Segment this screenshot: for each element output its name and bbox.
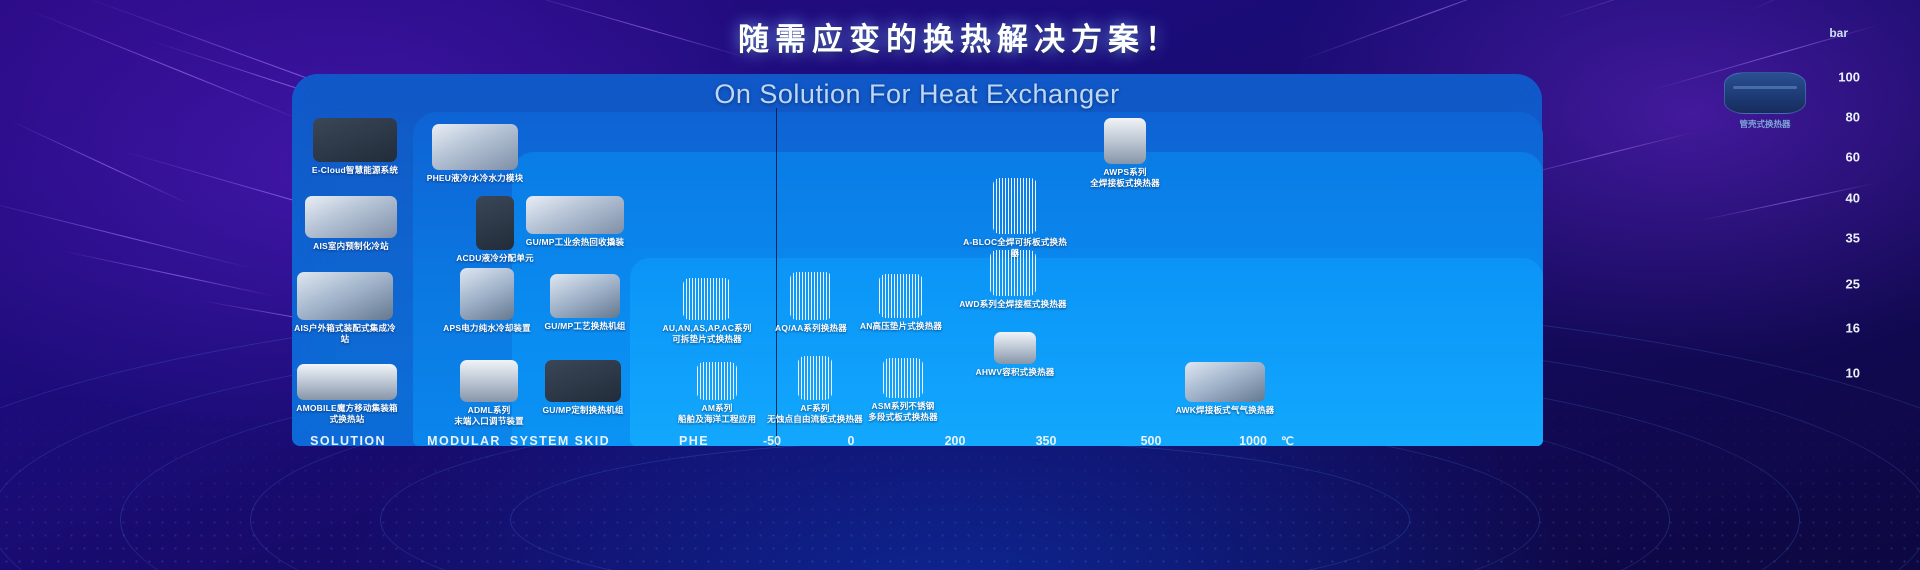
product-ais-outdoor-label: AIS户外箱式装配式集成冷站 bbox=[290, 323, 400, 345]
product-a-bloc-image bbox=[993, 178, 1037, 234]
axis-temperature-minus50: -50 bbox=[763, 434, 781, 448]
product-aq-aa-series-image bbox=[790, 272, 832, 320]
axis-unit-label: ℃ bbox=[1281, 434, 1294, 448]
subtitle: On Solution For Heat Exchanger bbox=[292, 72, 1542, 114]
product-am-series-label: AM系列 船舶及海洋工程应用 bbox=[662, 403, 772, 425]
axis-temperature-500: 500 bbox=[1141, 434, 1162, 448]
product-gump-custom-image bbox=[545, 360, 621, 402]
product-an-series[interactable]: AN高压垫片式换热器 bbox=[846, 274, 956, 332]
product-au-series-label: AU,AN,AS,AP,AC系列 可拆垫片式换热器 bbox=[652, 323, 762, 345]
product-awps-image bbox=[1104, 118, 1146, 164]
product-ahwv-label: AHWV容积式换热器 bbox=[960, 367, 1070, 378]
pressure-tick-16: 16 bbox=[1820, 321, 1860, 336]
product-ais-outdoor-image bbox=[297, 272, 393, 320]
product-ais-indoor-image bbox=[305, 196, 397, 238]
pressure-tick-25: 25 bbox=[1820, 277, 1860, 292]
page-title: 随需应变的换热解决方案！ bbox=[0, 14, 1920, 59]
axis-temperature-0: 0 bbox=[848, 434, 855, 448]
product-awd-series-label: AWD系列全焊接框式换热器 bbox=[958, 299, 1068, 310]
pressure-tick-10: 10 bbox=[1820, 366, 1860, 381]
product-ahwv-image bbox=[994, 332, 1036, 364]
axis-category-solution: SOLUTION bbox=[310, 434, 386, 448]
product-acdu-label: ACDU液冷分配单元 bbox=[440, 253, 550, 264]
product-awd-series[interactable]: AWD系列全焊接框式换热器 bbox=[958, 250, 1068, 310]
pressure-tick-40: 40 bbox=[1820, 191, 1860, 206]
pressure-tick-100: 100 bbox=[1820, 70, 1860, 85]
product-gump-process-label: GU/MP工艺换热机组 bbox=[530, 321, 640, 332]
shell-and-tube-unit: 管壳式换热器 bbox=[1710, 72, 1820, 130]
product-amobile[interactable]: AMOBILE魔方移动集装箱式换热站 bbox=[292, 364, 402, 425]
axis-category-modular: MODULAR bbox=[427, 434, 501, 448]
product-an-series-image bbox=[879, 274, 923, 318]
product-asm-series-label: ASM系列不锈钢 多段式板式换热器 bbox=[848, 401, 958, 423]
product-au-series-image bbox=[683, 278, 731, 320]
product-e-cloud-label: E-Cloud智慧能源系统 bbox=[300, 165, 410, 176]
product-aps-label: APS电力纯水冷却装置 bbox=[432, 323, 542, 334]
product-adml-image bbox=[460, 360, 518, 402]
product-au-series[interactable]: AU,AN,AS,AP,AC系列 可拆垫片式换热器 bbox=[652, 278, 762, 345]
product-pheu[interactable]: PHEU液冷/水冷水力模块 bbox=[420, 124, 530, 184]
product-awps-label: AWPS系列 全焊接板式换热器 bbox=[1070, 167, 1180, 189]
product-awk-label: AWK焊接板式气气换热器 bbox=[1170, 405, 1280, 416]
product-ais-indoor[interactable]: AIS室内预制化冷站 bbox=[296, 196, 406, 252]
product-am-series[interactable]: AM系列 船舶及海洋工程应用 bbox=[662, 362, 772, 425]
pressure-tick-80: 80 bbox=[1820, 110, 1860, 125]
product-awk[interactable]: AWK焊接板式气气换热器 bbox=[1170, 362, 1280, 416]
product-gump-custom-label: GU/MP定制换热机组 bbox=[528, 405, 638, 416]
product-awd-series-image bbox=[990, 250, 1036, 296]
product-acdu-image bbox=[476, 196, 514, 250]
product-e-cloud[interactable]: E-Cloud智慧能源系统 bbox=[300, 118, 410, 176]
axis-temperature-200: 200 bbox=[945, 434, 966, 448]
product-asm-series[interactable]: ASM系列不锈钢 多段式板式换热器 bbox=[848, 358, 958, 423]
product-gump-waste-heat[interactable]: GU/MP工业余热回收撬装 bbox=[520, 196, 630, 248]
shell-and-tube-icon bbox=[1724, 72, 1806, 114]
product-amobile-image bbox=[297, 364, 397, 400]
axis-temperature-350: 350 bbox=[1036, 434, 1057, 448]
axis-category-phe: PHE bbox=[679, 434, 709, 448]
product-awps[interactable]: AWPS系列 全焊接板式换热器 bbox=[1070, 118, 1180, 189]
bottom-axis: SOLUTIONMODULARSYSTEM SKIDPHE-5002003505… bbox=[0, 434, 1920, 462]
product-gump-waste-heat-label: GU/MP工业余热回收撬装 bbox=[520, 237, 630, 248]
product-aps-image bbox=[460, 268, 514, 320]
product-an-series-label: AN高压垫片式换热器 bbox=[846, 321, 956, 332]
product-am-series-image bbox=[697, 362, 737, 400]
product-gump-custom[interactable]: GU/MP定制换热机组 bbox=[528, 360, 638, 416]
axis-category-system-skid: SYSTEM SKID bbox=[510, 434, 610, 448]
product-e-cloud-image bbox=[313, 118, 397, 162]
pressure-unit-label: bar bbox=[1829, 26, 1848, 40]
pressure-tick-35: 35 bbox=[1820, 231, 1860, 246]
product-a-bloc[interactable]: A-BLOC全焊可拆板式换热器 bbox=[960, 178, 1070, 259]
product-gump-process[interactable]: GU/MP工艺换热机组 bbox=[530, 274, 640, 332]
product-ais-indoor-label: AIS室内预制化冷站 bbox=[296, 241, 406, 252]
product-pheu-image bbox=[432, 124, 518, 170]
product-ahwv[interactable]: AHWV容积式换热器 bbox=[960, 332, 1070, 378]
product-asm-series-image bbox=[883, 358, 923, 398]
pressure-scale: bar 管壳式换热器 10080604035251610 bbox=[1800, 0, 1920, 446]
product-gump-process-image bbox=[550, 274, 620, 318]
shell-and-tube-label: 管壳式换热器 bbox=[1710, 118, 1820, 130]
pressure-tick-60: 60 bbox=[1820, 150, 1860, 165]
product-aps[interactable]: APS电力纯水冷却装置 bbox=[432, 268, 542, 334]
product-awk-image bbox=[1185, 362, 1265, 402]
axis-temperature-1000: 1000 bbox=[1239, 434, 1267, 448]
product-amobile-label: AMOBILE魔方移动集装箱式换热站 bbox=[292, 403, 402, 425]
product-gump-waste-heat-image bbox=[526, 196, 624, 234]
product-ais-outdoor[interactable]: AIS户外箱式装配式集成冷站 bbox=[290, 272, 400, 345]
product-af-series-image bbox=[798, 356, 832, 400]
product-pheu-label: PHEU液冷/水冷水力模块 bbox=[420, 173, 530, 184]
